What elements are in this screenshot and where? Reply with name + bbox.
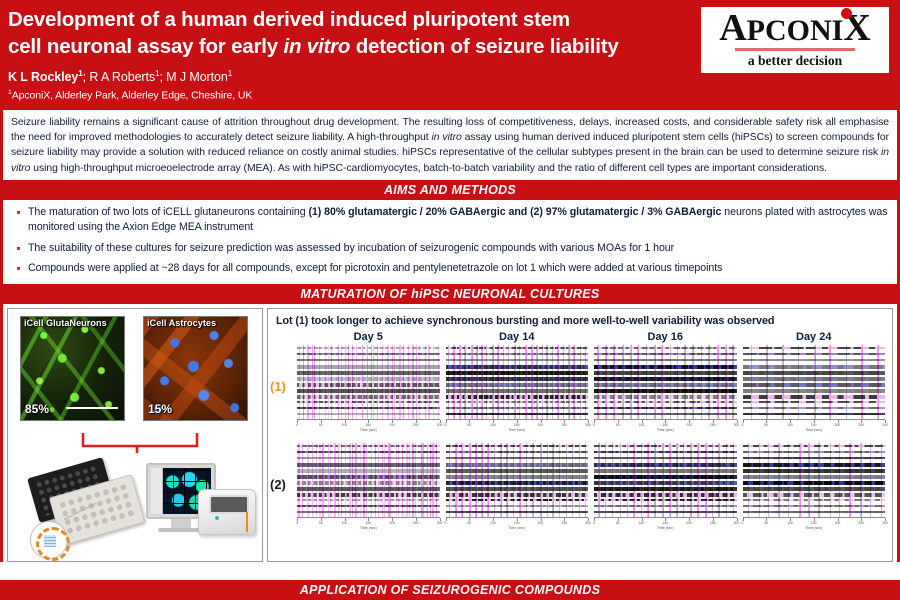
lot-2-raster-row: (2) 050100150200250300Time (sec) 0501001…	[268, 441, 892, 539]
axis-tick-label: 150	[811, 521, 817, 525]
page-title: Development of a human derived induced p…	[8, 6, 698, 60]
raster-canvas	[594, 345, 737, 419]
axis-tick-label: 150	[514, 521, 520, 525]
axis-tick-label: 250	[561, 423, 567, 427]
raster-x-axis: 050100150200250300Time (sec)	[594, 419, 737, 437]
axis-tick-label: 50	[616, 423, 620, 427]
list-item: The suitability of these cultures for se…	[11, 241, 889, 257]
raster-plot: 050100150200250300Time (sec)	[594, 345, 737, 439]
list-item: The maturation of two lots of iCELL glut…	[11, 205, 889, 236]
aims-and-methods-list: The maturation of two lots of iCELL glut…	[0, 200, 900, 284]
axis-tick-label: 0	[742, 423, 744, 427]
logo-dot-icon	[841, 8, 852, 19]
axis-tick-label: 200	[686, 423, 692, 427]
axis-tick-label: 250	[710, 521, 716, 525]
day-label: Day 5	[294, 331, 443, 343]
axis-tick-label: 150	[662, 521, 668, 525]
day-label: Day 24	[740, 331, 889, 343]
raster-x-axis: 050100150200250300Time (sec)	[743, 517, 886, 535]
axis-title: Time (sec)	[657, 428, 674, 432]
axis-tick-label: 100	[490, 423, 496, 427]
raster-plot: 050100150200250300Time (sec)	[446, 443, 589, 537]
axis-tick-label: 300	[734, 423, 740, 427]
micrograph-row: iCell GlutaNeurons 85% iCell Astrocytes …	[8, 309, 262, 421]
logo-tagline: a better decision	[748, 53, 842, 69]
axis-tick-label: 100	[342, 521, 348, 525]
raster-canvas	[594, 443, 737, 517]
lot-1-raster-row: (1) 050100150200250300Time (sec) 0501001…	[268, 343, 892, 441]
axis-tick-label: 50	[319, 521, 323, 525]
micrograph-percent: 85%	[25, 402, 49, 416]
axis-tick-label: 200	[538, 521, 544, 525]
axis-title: Time (sec)	[360, 428, 377, 432]
author-second: ; R A Roberts	[83, 70, 155, 84]
axis-title: Time (sec)	[805, 428, 822, 432]
bullet-square-icon	[17, 247, 20, 250]
axis-tick-label: 300	[882, 521, 888, 525]
micrograph-label: iCell GlutaNeurons	[24, 318, 107, 328]
title-line-1: Development of a human derived induced p…	[8, 8, 570, 31]
logo-letter-a: A	[719, 7, 746, 49]
axis-tick-label: 100	[787, 521, 793, 525]
axis-tick-label: 50	[467, 521, 471, 525]
raster-plot: 050100150200250300Time (sec)	[594, 443, 737, 537]
axis-tick-label: 200	[835, 521, 841, 525]
mea-headline: Lot (1) took longer to achieve synchrono…	[268, 309, 892, 327]
apconix-logo: APCONIX a better decision	[698, 4, 892, 76]
lot-label-1: (1)	[270, 379, 286, 394]
raster-canvas	[297, 345, 440, 419]
axis-tick-label: 250	[561, 521, 567, 525]
raster-plot: 050100150200250300Time (sec)	[743, 345, 886, 439]
raster-x-axis: 050100150200250300Time (sec)	[743, 419, 886, 437]
culture-composition-panel: iCell GlutaNeurons 85% iCell Astrocytes …	[7, 308, 263, 562]
raster-canvas	[446, 345, 589, 419]
bullet-square-icon	[17, 211, 20, 214]
raster-canvas	[446, 443, 589, 517]
axis-title: Time (sec)	[508, 428, 525, 432]
micrograph-glutaneurons: iCell GlutaNeurons 85%	[20, 316, 125, 421]
axis-tick-label: 100	[490, 521, 496, 525]
electrode-magnifier-icon	[30, 521, 68, 559]
axis-tick-label: 150	[514, 423, 520, 427]
section-banner-aims: AIMS AND METHODS	[0, 180, 900, 200]
axis-tick-label: 250	[413, 521, 419, 525]
micrograph-percent: 15%	[148, 402, 172, 416]
axis-tick-label: 200	[835, 423, 841, 427]
logo-wordmark: APCONIX	[719, 12, 871, 47]
affiliation: 1ApconiX, Alderley Park, Alderley Edge, …	[8, 89, 890, 102]
axis-tick-label: 150	[365, 423, 371, 427]
bullet-3-text: Compounds were applied at ~28 days for a…	[28, 262, 722, 274]
raster-x-axis: 050100150200250300Time (sec)	[446, 419, 589, 437]
axis-tick-label: 250	[710, 423, 716, 427]
raster-x-axis: 050100150200250300Time (sec)	[297, 517, 440, 535]
axis-tick-label: 300	[437, 423, 443, 427]
poster-header: Development of a human derived induced p…	[0, 0, 900, 110]
title-line-2-b: detection of seizure liability	[350, 35, 618, 58]
day-label-row: Day 5 Day 14 Day 16 Day 24	[268, 327, 892, 343]
axis-tick-label: 0	[742, 521, 744, 525]
axis-tick-label: 0	[593, 521, 595, 525]
raster-canvas	[297, 443, 440, 517]
affiliation-text: ApconiX, Alderley Park, Alderley Edge, C…	[12, 90, 253, 102]
axis-tick-label: 0	[445, 423, 447, 427]
logo-underline	[735, 48, 855, 51]
mea-raster-panel: Lot (1) took longer to achieve synchrono…	[267, 308, 893, 562]
axis-tick-label: 150	[811, 423, 817, 427]
raster-canvas	[743, 443, 886, 517]
poster-root: Development of a human derived induced p…	[0, 0, 900, 600]
axis-tick-label: 200	[538, 423, 544, 427]
author-third: ; M J Morton	[159, 70, 227, 84]
axis-tick-label: 0	[296, 423, 298, 427]
section-banner-application: APPLICATION OF SEIZUROGENIC COMPOUNDS	[0, 580, 900, 600]
scale-bar	[66, 407, 118, 409]
axis-tick-label: 50	[467, 423, 471, 427]
axis-tick-label: 200	[389, 521, 395, 525]
axis-tick-label: 0	[445, 521, 447, 525]
raster-canvas	[743, 345, 886, 419]
axis-tick-label: 50	[319, 423, 323, 427]
red-bracket-connector	[80, 432, 200, 454]
abstract-part-3: using high-throughput microeoelectrode a…	[30, 163, 827, 174]
axis-tick-label: 0	[593, 423, 595, 427]
maturation-panels: iCell GlutaNeurons 85% iCell Astrocytes …	[0, 304, 900, 562]
axis-tick-label: 100	[639, 423, 645, 427]
abstract-text: Seizure liability remains a significant …	[0, 110, 900, 180]
micrograph-label: iCell Astrocytes	[147, 318, 216, 328]
raster-x-axis: 050100150200250300Time (sec)	[446, 517, 589, 535]
axis-title: Time (sec)	[360, 526, 377, 530]
bullet-text: Compounds were applied at ~28 days for a…	[28, 261, 722, 277]
author-primary: K L Rockley	[8, 70, 78, 84]
list-item: Compounds were applied at ~28 days for a…	[11, 261, 889, 277]
axis-tick-label: 100	[787, 423, 793, 427]
axis-tick-label: 50	[616, 521, 620, 525]
bullet-2-text: The suitability of these cultures for se…	[28, 242, 674, 254]
section-banner-maturation: MATURATION OF hiPSC NEURONAL CULTURES	[0, 284, 900, 304]
monitor-sidebar	[151, 468, 163, 514]
axis-tick-label: 150	[662, 423, 668, 427]
axis-tick-label: 300	[585, 423, 591, 427]
author-sup-3: 1	[228, 69, 232, 78]
day-label: Day 16	[591, 331, 740, 343]
axis-tick-label: 50	[764, 423, 768, 427]
axis-title: Time (sec)	[805, 526, 822, 530]
axis-title: Time (sec)	[657, 526, 674, 530]
instrument-led-icon	[215, 516, 219, 520]
bullet-square-icon	[17, 267, 20, 270]
raster-x-axis: 050100150200250300Time (sec)	[594, 517, 737, 535]
axion-edge-instrument-icon	[198, 489, 256, 535]
axis-tick-label: 250	[858, 423, 864, 427]
day-label: Day 14	[443, 331, 592, 343]
axis-tick-label: 150	[365, 521, 371, 525]
raster-plot: 050100150200250300Time (sec)	[297, 443, 440, 537]
title-line-2-a: cell neuronal assay for early	[8, 35, 283, 58]
axis-tick-label: 0	[296, 521, 298, 525]
logo-letters-mid: PCONI	[747, 14, 844, 47]
axis-tick-label: 50	[764, 521, 768, 525]
axis-tick-label: 250	[413, 423, 419, 427]
bullet-1-bold: (1) 80% glutamatergic / 20% GABAergic an…	[308, 206, 721, 218]
bullet-1-pre: The maturation of two lots of iCELL glut…	[28, 206, 308, 218]
lot-label-2: (2)	[270, 477, 286, 492]
axis-tick-label: 300	[437, 521, 443, 525]
axis-tick-label: 300	[585, 521, 591, 525]
axis-tick-label: 200	[389, 423, 395, 427]
raster-plot: 050100150200250300Time (sec)	[743, 443, 886, 537]
raster-x-axis: 050100150200250300Time (sec)	[297, 419, 440, 437]
axis-tick-label: 100	[342, 423, 348, 427]
bullet-text: The maturation of two lots of iCELL glut…	[28, 205, 889, 236]
axis-tick-label: 250	[858, 521, 864, 525]
axis-title: Time (sec)	[508, 526, 525, 530]
raster-plot: 050100150200250300Time (sec)	[446, 345, 589, 439]
mea-equipment-illustration	[8, 459, 262, 559]
micrograph-astrocytes: iCell Astrocytes 15%	[143, 316, 248, 421]
axis-tick-label: 100	[639, 521, 645, 525]
axis-tick-label: 300	[734, 521, 740, 525]
title-line-2-italic: in vitro	[283, 35, 350, 58]
raster-plot: 050100150200250300Time (sec)	[297, 345, 440, 439]
abstract-italic-1: in vitro	[431, 132, 461, 143]
axis-tick-label: 200	[686, 521, 692, 525]
axis-tick-label: 300	[882, 423, 888, 427]
bullet-text: The suitability of these cultures for se…	[28, 241, 674, 257]
